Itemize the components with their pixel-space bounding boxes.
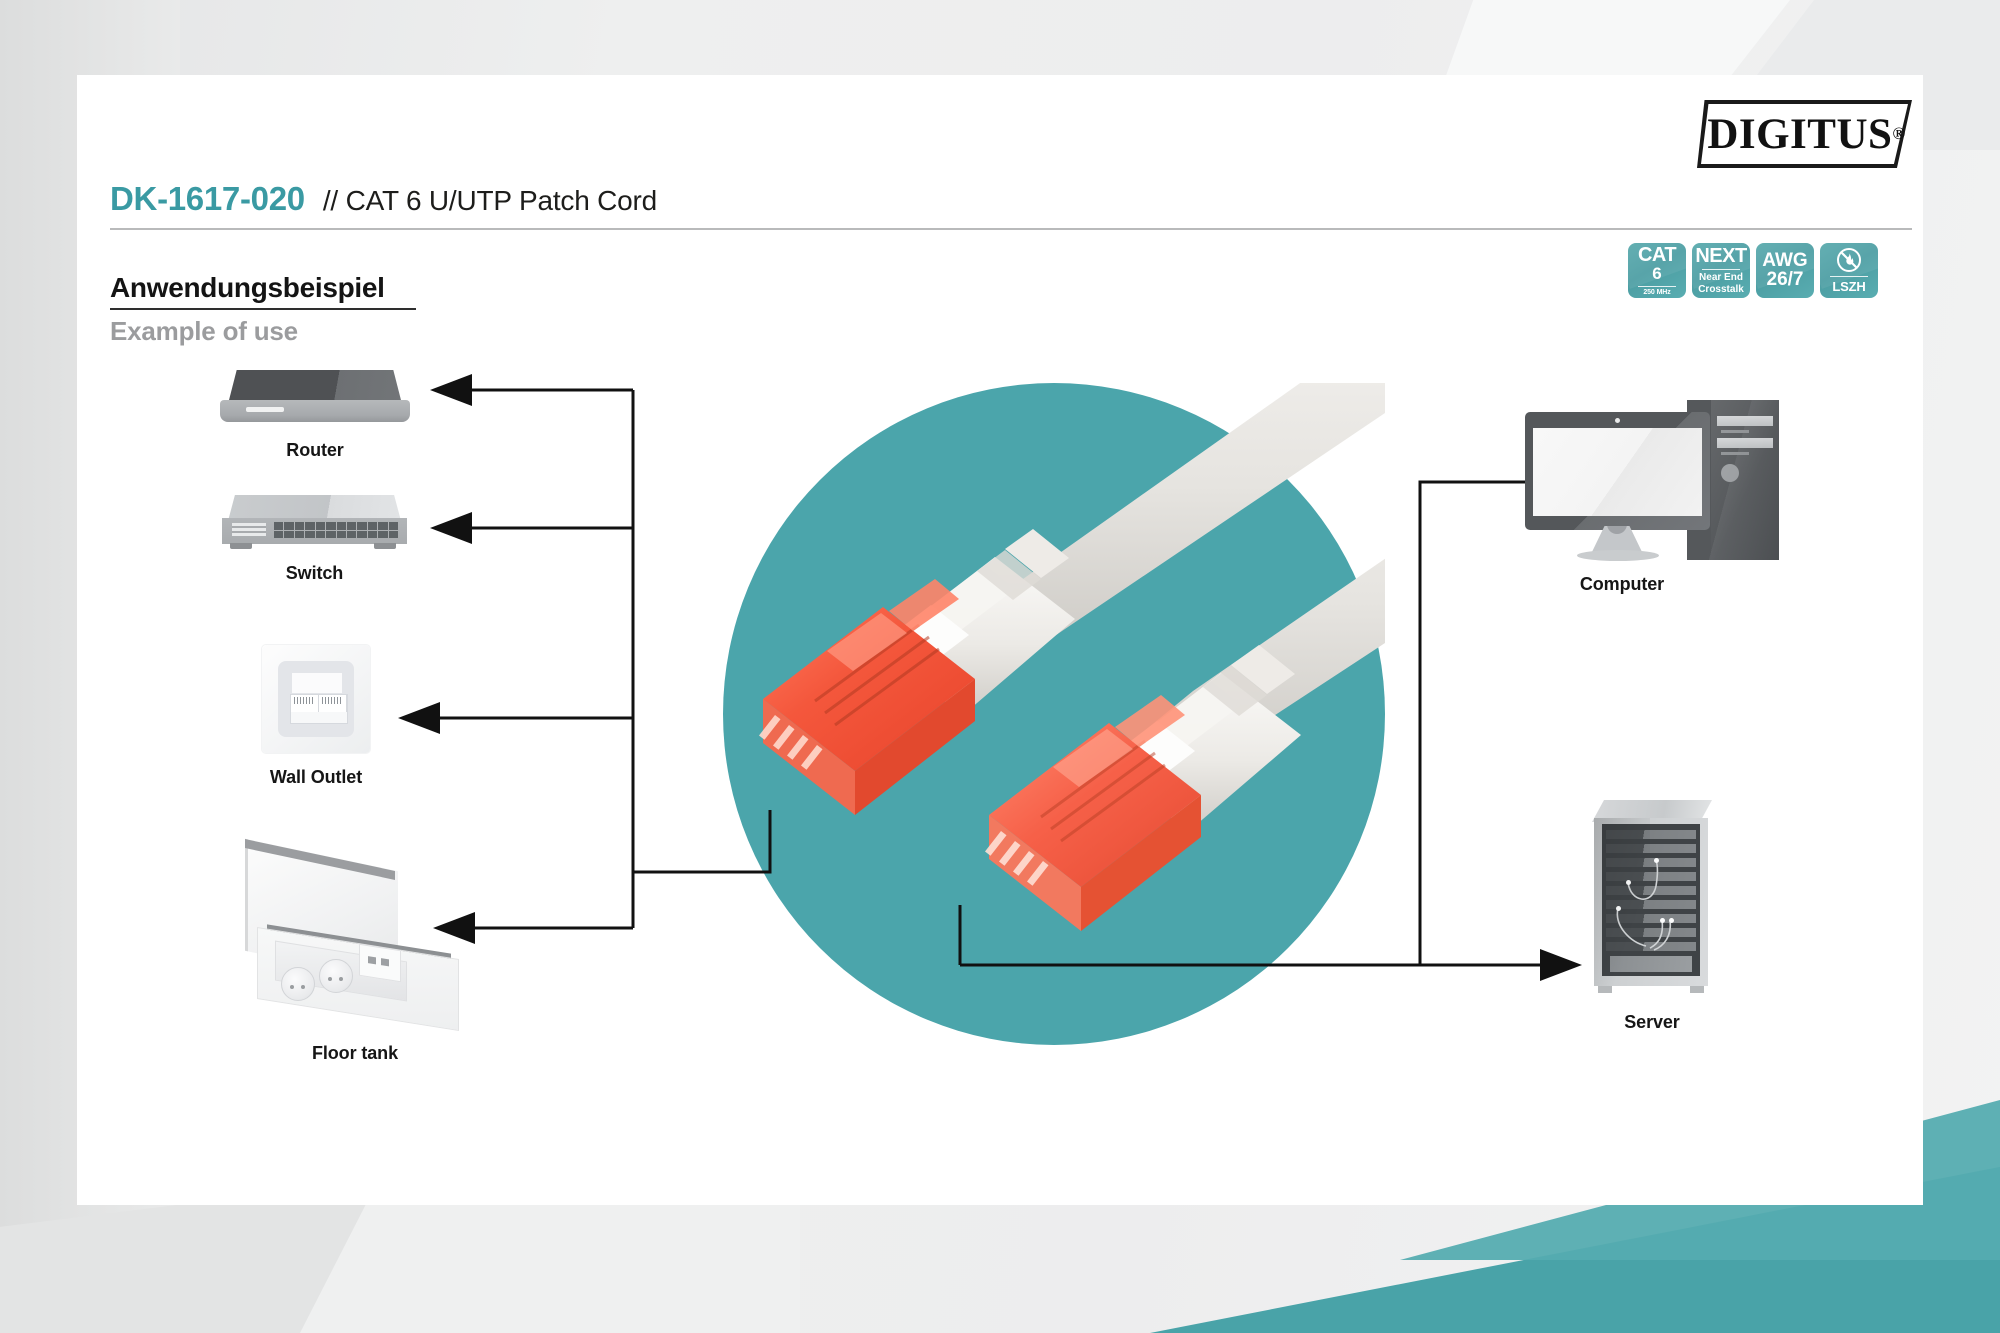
webcam-dot bbox=[1615, 418, 1620, 423]
tower-gloss bbox=[1711, 400, 1781, 560]
cat-badge-footnote: 250 MHz bbox=[1643, 289, 1670, 296]
server-led bbox=[1669, 918, 1674, 923]
router-icon: Router bbox=[220, 370, 410, 430]
logo-wordmark: DIGITUS bbox=[1707, 110, 1892, 159]
logo-text: DIGITUS® bbox=[1697, 100, 1912, 168]
awg-badge-main: AWG bbox=[1762, 251, 1807, 270]
product-sku: DK-1617-020 bbox=[110, 180, 305, 218]
outlet-rj45-jacks bbox=[290, 694, 348, 724]
cat-badge-sub: 6 bbox=[1652, 265, 1661, 283]
computer-icon: Computer bbox=[1525, 412, 1775, 562]
cat-badge-main: CAT bbox=[1638, 245, 1676, 265]
floor-tank-icon: Floor tank bbox=[235, 855, 475, 1035]
switch-ports bbox=[274, 522, 398, 538]
cat-badge: CAT 6 250 MHz bbox=[1628, 243, 1686, 298]
monitor-screen bbox=[1533, 428, 1702, 516]
server-label: Server bbox=[1592, 1012, 1712, 1033]
server-foot bbox=[1690, 986, 1704, 993]
section-heading-de: Anwendungsbeispiel bbox=[110, 272, 385, 304]
product-description: // CAT 6 U/UTP Patch Cord bbox=[323, 185, 657, 217]
product-header: DK-1617-020 // CAT 6 U/UTP Patch Cord bbox=[110, 180, 1910, 218]
digitus-logo: DIGITUS® bbox=[1697, 100, 1912, 168]
router-label: Router bbox=[220, 440, 410, 461]
server-icon: Server bbox=[1592, 800, 1712, 1000]
monitor-body bbox=[1525, 412, 1710, 530]
server-led bbox=[1654, 858, 1659, 863]
product-image bbox=[723, 383, 1385, 1045]
registered-mark: ® bbox=[1892, 124, 1905, 144]
wall-outlet-label: Wall Outlet bbox=[262, 767, 370, 788]
cat-badge-divider bbox=[1638, 286, 1676, 287]
no-flame-icon bbox=[1836, 247, 1862, 273]
switch-label: Switch bbox=[222, 563, 407, 584]
section-heading-underline bbox=[110, 308, 416, 310]
section-heading-en: Example of use bbox=[110, 316, 298, 347]
next-badge-divider bbox=[1702, 269, 1740, 270]
router-top bbox=[228, 370, 402, 404]
lszh-badge-label: LSZH bbox=[1832, 279, 1865, 294]
next-badge-line1: Near End bbox=[1699, 272, 1743, 283]
power-socket bbox=[319, 959, 353, 993]
switch-icon: Switch bbox=[222, 495, 407, 550]
next-badge-main: NEXT bbox=[1695, 246, 1746, 266]
power-socket bbox=[281, 967, 315, 1001]
next-badge: NEXT Near End Crosstalk bbox=[1692, 243, 1750, 298]
switch-foot bbox=[230, 543, 252, 549]
awg-badge-sub: 26/7 bbox=[1767, 270, 1804, 291]
spec-badge-group: CAT 6 250 MHz NEXT Near End Crosstalk AW… bbox=[1628, 243, 1878, 298]
switch-foot bbox=[374, 543, 396, 549]
rj45-jack bbox=[319, 695, 347, 712]
floor-tank-label: Floor tank bbox=[235, 1043, 475, 1064]
lszh-badge: LSZH bbox=[1820, 243, 1878, 298]
server-front-face bbox=[1602, 824, 1700, 976]
monitor-stand-base bbox=[1577, 550, 1659, 561]
server-foot bbox=[1598, 986, 1612, 993]
next-badge-line2: Crosstalk bbox=[1698, 284, 1744, 295]
outlet-label-slot bbox=[292, 673, 342, 693]
slide-canvas: DIGITUS® DK-1617-020 // CAT 6 U/UTP Patc… bbox=[0, 0, 2000, 1333]
data-module bbox=[359, 944, 401, 983]
computer-label: Computer bbox=[1497, 574, 1747, 595]
server-cable-curves bbox=[1602, 824, 1700, 976]
server-led bbox=[1660, 918, 1665, 923]
wall-outlet-icon: Wall Outlet bbox=[262, 645, 370, 753]
awg-badge: AWG 26/7 bbox=[1756, 243, 1814, 298]
header-divider bbox=[110, 228, 1912, 230]
server-led bbox=[1626, 880, 1631, 885]
switch-vent bbox=[232, 523, 266, 536]
server-led bbox=[1616, 906, 1621, 911]
rj45-jack bbox=[291, 695, 319, 712]
router-led bbox=[246, 407, 284, 412]
lszh-badge-divider bbox=[1830, 276, 1868, 277]
